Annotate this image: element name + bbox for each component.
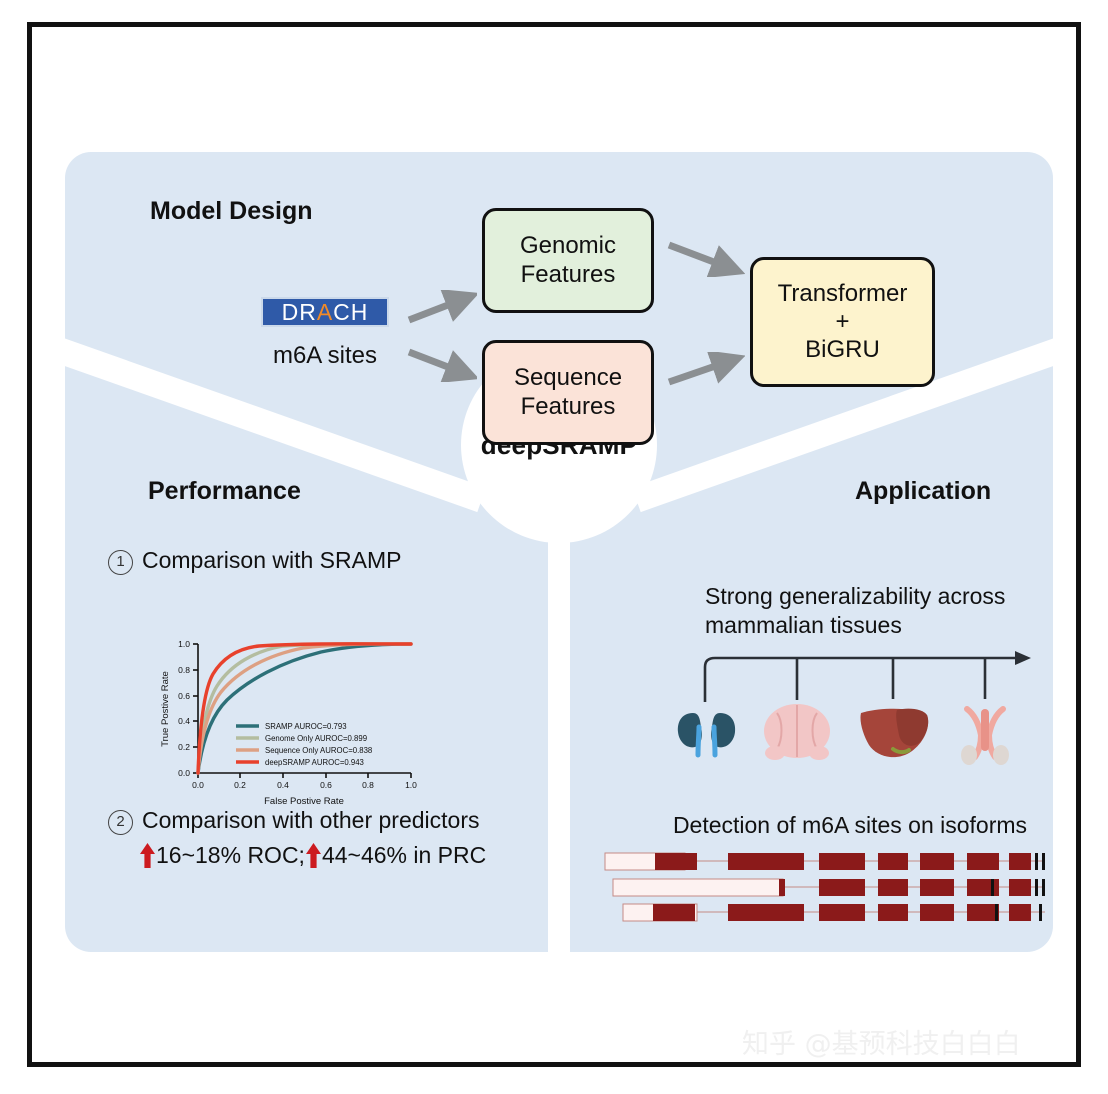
isoform-track-2 [613, 879, 1045, 896]
roc-xtick-0: 0.0 [192, 780, 204, 790]
genomic-features-box: Genomic Features [482, 208, 654, 313]
roc-legend-label-2: Sequence Only AUROC=0.838 [265, 746, 372, 755]
performance-item-1-number: 1 [108, 550, 133, 575]
reproductive-organ-icon [961, 709, 1009, 765]
section-title-application: Application [855, 477, 991, 506]
section-title-performance: Performance [148, 477, 301, 506]
up-arrow-icon-prc [305, 842, 322, 869]
sequence-features-line2: Features [521, 393, 616, 421]
roc-curve-chart: 0.0 0.2 0.4 0.6 0.8 1.0 0.0 0.2 0.4 0.6 … [153, 630, 428, 815]
tissue-timeline [665, 647, 1045, 767]
roc-legend-label-0: SRAMP AUROC=0.793 [265, 722, 347, 731]
performance-metric-prc: 44~46% in PRC [322, 842, 486, 868]
up-arrow-icon-roc [139, 842, 156, 869]
isoform-tracks [595, 849, 1053, 924]
isoform-detection-title: Detection of m6A sites on isoforms [650, 812, 1050, 839]
roc-ytick-0: 0.0 [178, 768, 190, 778]
liver-icon [860, 709, 928, 758]
performance-item-1: 1Comparison with SRAMP [108, 547, 401, 575]
drach-highlight-A: A [317, 299, 333, 326]
roc-ytick-2: 0.4 [178, 716, 190, 726]
roc-y-axis-label: True Postive Rate [160, 671, 171, 747]
divider-vertical [548, 482, 570, 952]
performance-item-2-metrics: 16~18% ROC; 44~46% in PRC [139, 842, 486, 869]
roc-xtick-5: 1.0 [405, 780, 417, 790]
application-subtitle: Strong generalizability across mammalian… [705, 582, 1045, 641]
model-architecture-line1: Transformer [778, 280, 908, 308]
performance-item-2-number: 2 [108, 810, 133, 835]
arrow-sequence-to-model [665, 352, 745, 392]
tissue-axis [705, 658, 1017, 702]
roc-xtick-4: 0.8 [362, 780, 374, 790]
infographic-canvas: deepSRAMP Model Design DRACH m6A sites G [65, 152, 1053, 952]
roc-ytick-4: 0.8 [178, 665, 190, 675]
figure-frame: deepSRAMP Model Design DRACH m6A sites G [27, 22, 1081, 1067]
roc-x-tick-labels: 0.0 0.2 0.4 0.6 0.8 1.0 [192, 780, 417, 790]
brain-icon [764, 704, 830, 760]
genomic-features-line1: Genomic [520, 232, 616, 260]
roc-legend: SRAMP AUROC=0.793 Genome Only AUROC=0.89… [236, 722, 372, 767]
roc-ytick-3: 0.6 [178, 691, 190, 701]
arrow-drach-to-genomic [405, 290, 477, 330]
arrow-genomic-to-model [665, 237, 745, 277]
performance-item-1-label: Comparison with SRAMP [142, 547, 401, 573]
roc-ytick-5: 1.0 [178, 639, 190, 649]
model-architecture-line3: BiGRU [805, 336, 880, 364]
roc-legend-label-3: deepSRAMP AUROC=0.943 [265, 758, 364, 767]
roc-legend-label-1: Genome Only AUROC=0.899 [265, 734, 367, 743]
sequence-features-line1: Sequence [514, 364, 622, 392]
performance-metric-roc: 16~18% ROC; [156, 842, 305, 868]
isoform-track-1 [605, 853, 1045, 870]
watermark: 知乎 @基预科技白白白 [742, 1022, 1021, 1061]
model-architecture-box: Transformer + BiGRU [750, 257, 935, 387]
roc-ytick-1: 0.2 [178, 742, 190, 752]
roc-xtick-1: 0.2 [234, 780, 246, 790]
roc-x-axis-label: False Postive Rate [264, 796, 344, 807]
drach-part-2: CH [333, 299, 368, 326]
roc-xtick-3: 0.6 [320, 780, 332, 790]
m6a-sites-label: m6A sites [255, 342, 395, 370]
roc-xtick-2: 0.4 [277, 780, 289, 790]
section-title-model-design: Model Design [150, 197, 313, 226]
performance-item-2: 2Comparison with other predictors [108, 807, 479, 835]
drach-motif-badge: DRACH [261, 297, 389, 327]
arrow-m6a-to-sequence [405, 342, 477, 382]
sequence-features-box: Sequence Features [482, 340, 654, 445]
isoform-track-3 [623, 904, 1045, 921]
performance-item-2-label: Comparison with other predictors [142, 807, 479, 833]
model-architecture-line2: + [835, 308, 849, 336]
drach-part-1: DR [282, 299, 317, 326]
genomic-features-line2: Features [521, 261, 616, 289]
kidney-icon [678, 713, 735, 755]
roc-y-tick-labels: 0.0 0.2 0.4 0.6 0.8 1.0 [178, 639, 190, 778]
timeline-arrowhead-icon [1015, 651, 1031, 665]
